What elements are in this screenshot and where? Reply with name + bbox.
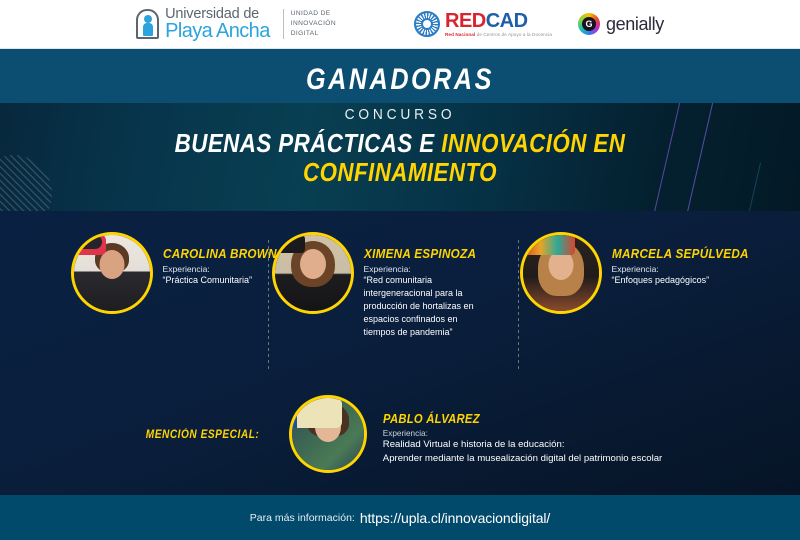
winner-card: MARCELA SEPÚLVEDA Experiencia: “Enfoques… xyxy=(518,232,778,314)
redcad-wordmark: REDCAD Red Nacional de Centros de Apoyo … xyxy=(445,11,552,38)
footer-bar: Para más información: https://upla.cl/in… xyxy=(0,495,800,540)
title-block: GANADORAS CONCURSO BUENAS PRÁCTICAS E IN… xyxy=(0,49,800,186)
winner-name: CAROLINA BROWN xyxy=(163,246,277,261)
redcad-name: REDCAD xyxy=(445,11,552,31)
page-title: GANADORAS xyxy=(64,63,736,97)
special-mention-text: PABLO ÁLVAREZ Experiencia: Realidad Virt… xyxy=(383,395,662,467)
special-mention-line1: Realidad Virtual e historia de la educac… xyxy=(383,438,662,452)
logo-bar: Universidad de Playa Ancha UNIDAD DE INN… xyxy=(0,0,800,49)
upla-wordmark: Universidad de Playa Ancha xyxy=(165,7,270,41)
genially-word: genially xyxy=(606,14,664,35)
upla-unit-line3: DIGITAL xyxy=(291,29,336,39)
upla-logo: Universidad de Playa Ancha UNIDAD DE INN… xyxy=(136,7,336,41)
poster-canvas: Universidad de Playa Ancha UNIDAD DE INN… xyxy=(0,0,800,540)
title-main-conn: E xyxy=(419,128,434,158)
avatar xyxy=(71,232,153,314)
winner-experience-label: Experiencia: xyxy=(364,264,489,274)
redcad-tagline: Red Nacional de Centros de Apoyo a la Do… xyxy=(445,33,552,38)
winner-card: CAROLINA BROWN Experiencia: “Práctica Co… xyxy=(23,232,268,314)
column-separator xyxy=(268,240,269,370)
redcad-tagline-red: Red Nacional xyxy=(445,32,475,37)
winner-description: “Enfoques pedagógicos” xyxy=(612,274,764,287)
special-mention-experience-label: Experiencia: xyxy=(383,429,662,438)
special-mention-name: PABLO ÁLVAREZ xyxy=(383,412,634,426)
winners-row: CAROLINA BROWN Experiencia: “Práctica Co… xyxy=(0,232,800,372)
winner-card: XIMENA ESPINOZA Experiencia: “Red comuni… xyxy=(268,232,518,339)
footer-url[interactable]: https://upla.cl/innovaciondigital/ xyxy=(360,510,550,526)
title-main-part1: BUENAS PRÁCTICAS xyxy=(175,128,413,158)
special-mention-section: MENCIÓN ESPECIAL: PABLO ÁLVAREZ Experien… xyxy=(0,395,800,487)
gear-icon xyxy=(414,11,440,37)
winner-description: “Red comunitaria intergeneracional para … xyxy=(364,274,484,339)
genially-icon xyxy=(578,13,600,35)
winner-name: XIMENA ESPINOZA xyxy=(364,246,476,261)
avatar xyxy=(520,232,602,314)
upla-unit-label: UNIDAD DE INNOVACIÓN DIGITAL xyxy=(283,9,336,39)
redcad-logo: REDCAD Red Nacional de Centros de Apoyo … xyxy=(414,11,552,38)
special-mention-line2: Aprender mediante la musealización digit… xyxy=(383,452,662,466)
genially-logo: genially xyxy=(578,13,664,35)
winner-experience-label: Experiencia: xyxy=(612,264,764,274)
title-main-part3: CONFINAMIENTO xyxy=(303,157,497,187)
title-main: BUENAS PRÁCTICAS E INNOVACIÓN EN CONFINA… xyxy=(56,129,744,186)
upla-emblem-icon xyxy=(136,9,159,39)
column-separator xyxy=(518,240,519,370)
winner-text: XIMENA ESPINOZA Experiencia: “Red comuni… xyxy=(364,232,489,339)
winner-text: MARCELA SEPÚLVEDA Experiencia: “Enfoques… xyxy=(612,232,764,287)
upla-unit-line1: UNIDAD DE xyxy=(291,9,336,19)
upla-unit-line2: INNOVACIÓN xyxy=(291,19,336,29)
redcad-name-red: RED xyxy=(445,10,486,32)
winner-name: MARCELA SEPÚLVEDA xyxy=(612,246,749,261)
redcad-tagline-gray: de Centros de Apoyo a la Docencia xyxy=(475,32,552,37)
avatar xyxy=(289,395,367,473)
avatar xyxy=(272,232,354,314)
upla-line2: Playa Ancha xyxy=(165,21,270,41)
title-kicker: CONCURSO xyxy=(20,107,780,123)
footer-prefix: Para más información: xyxy=(250,512,355,524)
title-main-part2: INNOVACIÓN EN xyxy=(441,128,625,158)
redcad-name-blue: CAD xyxy=(486,10,528,32)
partner-logos: REDCAD Red Nacional de Centros de Apoyo … xyxy=(414,11,664,38)
special-mention-label: MENCIÓN ESPECIAL: xyxy=(145,429,259,441)
